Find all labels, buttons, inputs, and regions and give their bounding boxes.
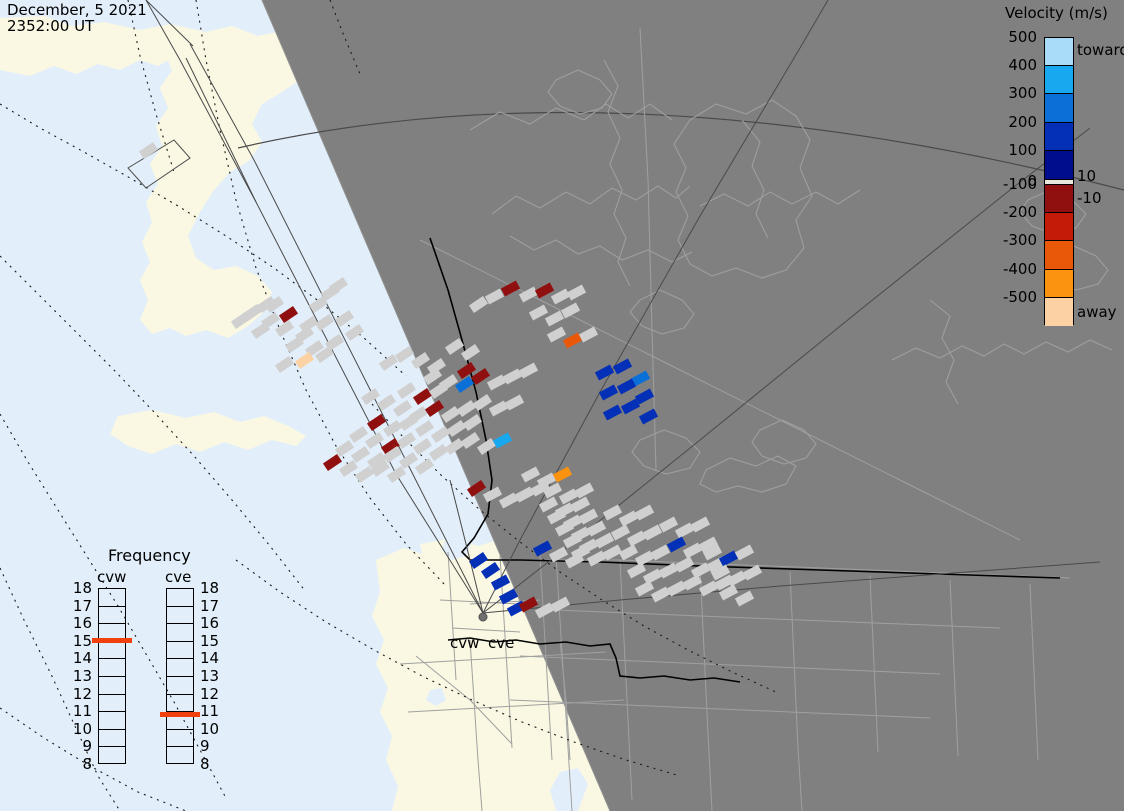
frequency-segment <box>167 659 193 677</box>
frequency-tick: 12 <box>200 685 219 703</box>
frequency-tick: 14 <box>72 649 92 667</box>
frequency-segment <box>167 624 193 642</box>
colorbar-band <box>1045 213 1073 241</box>
colorbar-gradient <box>1044 37 1074 325</box>
frequency-segment <box>167 677 193 695</box>
frequency-bar-cvw <box>98 588 126 764</box>
frequency-segment <box>167 607 193 625</box>
frequency-segment <box>167 730 193 748</box>
colorbar-tick: -100 <box>1003 175 1037 193</box>
frequency-tick: 9 <box>72 737 92 755</box>
station-label-cvw: cvw <box>450 634 479 652</box>
frequency-panel: Frequency cvw18171615141312111098cve1817… <box>88 546 228 778</box>
frequency-tick: 14 <box>200 649 219 667</box>
frequency-segment <box>99 695 125 713</box>
colorbar-tick: -400 <box>1003 260 1037 278</box>
frequency-segment <box>99 747 125 765</box>
timestamp-label: December, 5 20212352:00 UT <box>7 2 147 34</box>
frequency-segment <box>167 589 193 607</box>
frequency-segment <box>99 607 125 625</box>
colorbar-tick: 500 <box>1008 28 1037 46</box>
colorbar-band <box>1045 151 1073 179</box>
colorbar-label-toward: toward <box>1077 41 1124 59</box>
frequency-tick: 11 <box>200 702 219 720</box>
radar-map-view: December, 5 20212352:00 UT Velocity (m/s… <box>0 0 1124 811</box>
colorbar-tick: -200 <box>1003 203 1037 221</box>
colorbar-tick: -500 <box>1003 288 1037 306</box>
colorbar-tick: 300 <box>1008 84 1037 102</box>
frequency-title: Frequency <box>108 546 191 565</box>
colorbar-band <box>1045 270 1073 298</box>
colorbar-tick: 100 <box>1008 141 1037 159</box>
colorbar-tick-labels: 5004003002001000-100-200-300-400-500 <box>997 37 1041 325</box>
colorbar-tick: -300 <box>1003 231 1037 249</box>
frequency-tick: 13 <box>200 667 219 685</box>
frequency-tick: 17 <box>72 597 92 615</box>
colorbar-band <box>1045 185 1073 213</box>
colorbar-band <box>1045 123 1073 151</box>
radar-site-marker <box>479 613 487 621</box>
frequency-tick: 8 <box>72 755 92 773</box>
frequency-tick: 10 <box>200 720 219 738</box>
frequency-bar-name-cvw: cvw <box>97 568 126 586</box>
frequency-segment <box>167 747 193 765</box>
frequency-segment <box>99 677 125 695</box>
colorbar-side-labels: toward10-10away <box>1077 37 1123 325</box>
colorbar-band <box>1045 298 1073 326</box>
colorbar-label-away: away <box>1077 303 1117 321</box>
timestamp-time: 2352:00 UT <box>7 17 94 35</box>
frequency-tick: 9 <box>200 737 210 755</box>
colorbar-tick: 400 <box>1008 56 1037 74</box>
frequency-segment <box>167 695 193 713</box>
station-label-cve: cve <box>488 634 514 652</box>
frequency-marker-cvw <box>92 638 132 643</box>
frequency-tick: 16 <box>72 614 92 632</box>
colorbar-tick: 200 <box>1008 113 1037 131</box>
frequency-segment <box>99 712 125 730</box>
frequency-tick: 17 <box>200 597 219 615</box>
frequency-bar-name-cve: cve <box>165 568 191 586</box>
frequency-tick: 18 <box>200 579 219 597</box>
frequency-segment <box>167 642 193 660</box>
frequency-tick: 11 <box>72 702 92 720</box>
colorbar-band <box>1045 94 1073 122</box>
frequency-tick: 15 <box>72 632 92 650</box>
frequency-marker-cve <box>160 712 200 717</box>
frequency-segment <box>99 659 125 677</box>
frequency-tick: 10 <box>72 720 92 738</box>
frequency-segment <box>99 642 125 660</box>
colorbar-title: Velocity (m/s) <box>1005 4 1108 22</box>
colorbar-band <box>1045 241 1073 269</box>
colorbar-label-positive-threshold: 10 <box>1077 167 1096 185</box>
frequency-tick: 8 <box>200 755 210 773</box>
frequency-tick: 18 <box>72 579 92 597</box>
frequency-tick: 12 <box>72 685 92 703</box>
colorbar-label-negative-threshold: -10 <box>1077 189 1102 207</box>
frequency-segment <box>99 589 125 607</box>
frequency-segment <box>99 730 125 748</box>
frequency-tick: 15 <box>200 632 219 650</box>
frequency-tick: 16 <box>200 614 219 632</box>
colorbar-band <box>1045 38 1073 66</box>
colorbar-band <box>1045 66 1073 94</box>
frequency-tick: 13 <box>72 667 92 685</box>
frequency-bar-cve <box>166 588 194 764</box>
